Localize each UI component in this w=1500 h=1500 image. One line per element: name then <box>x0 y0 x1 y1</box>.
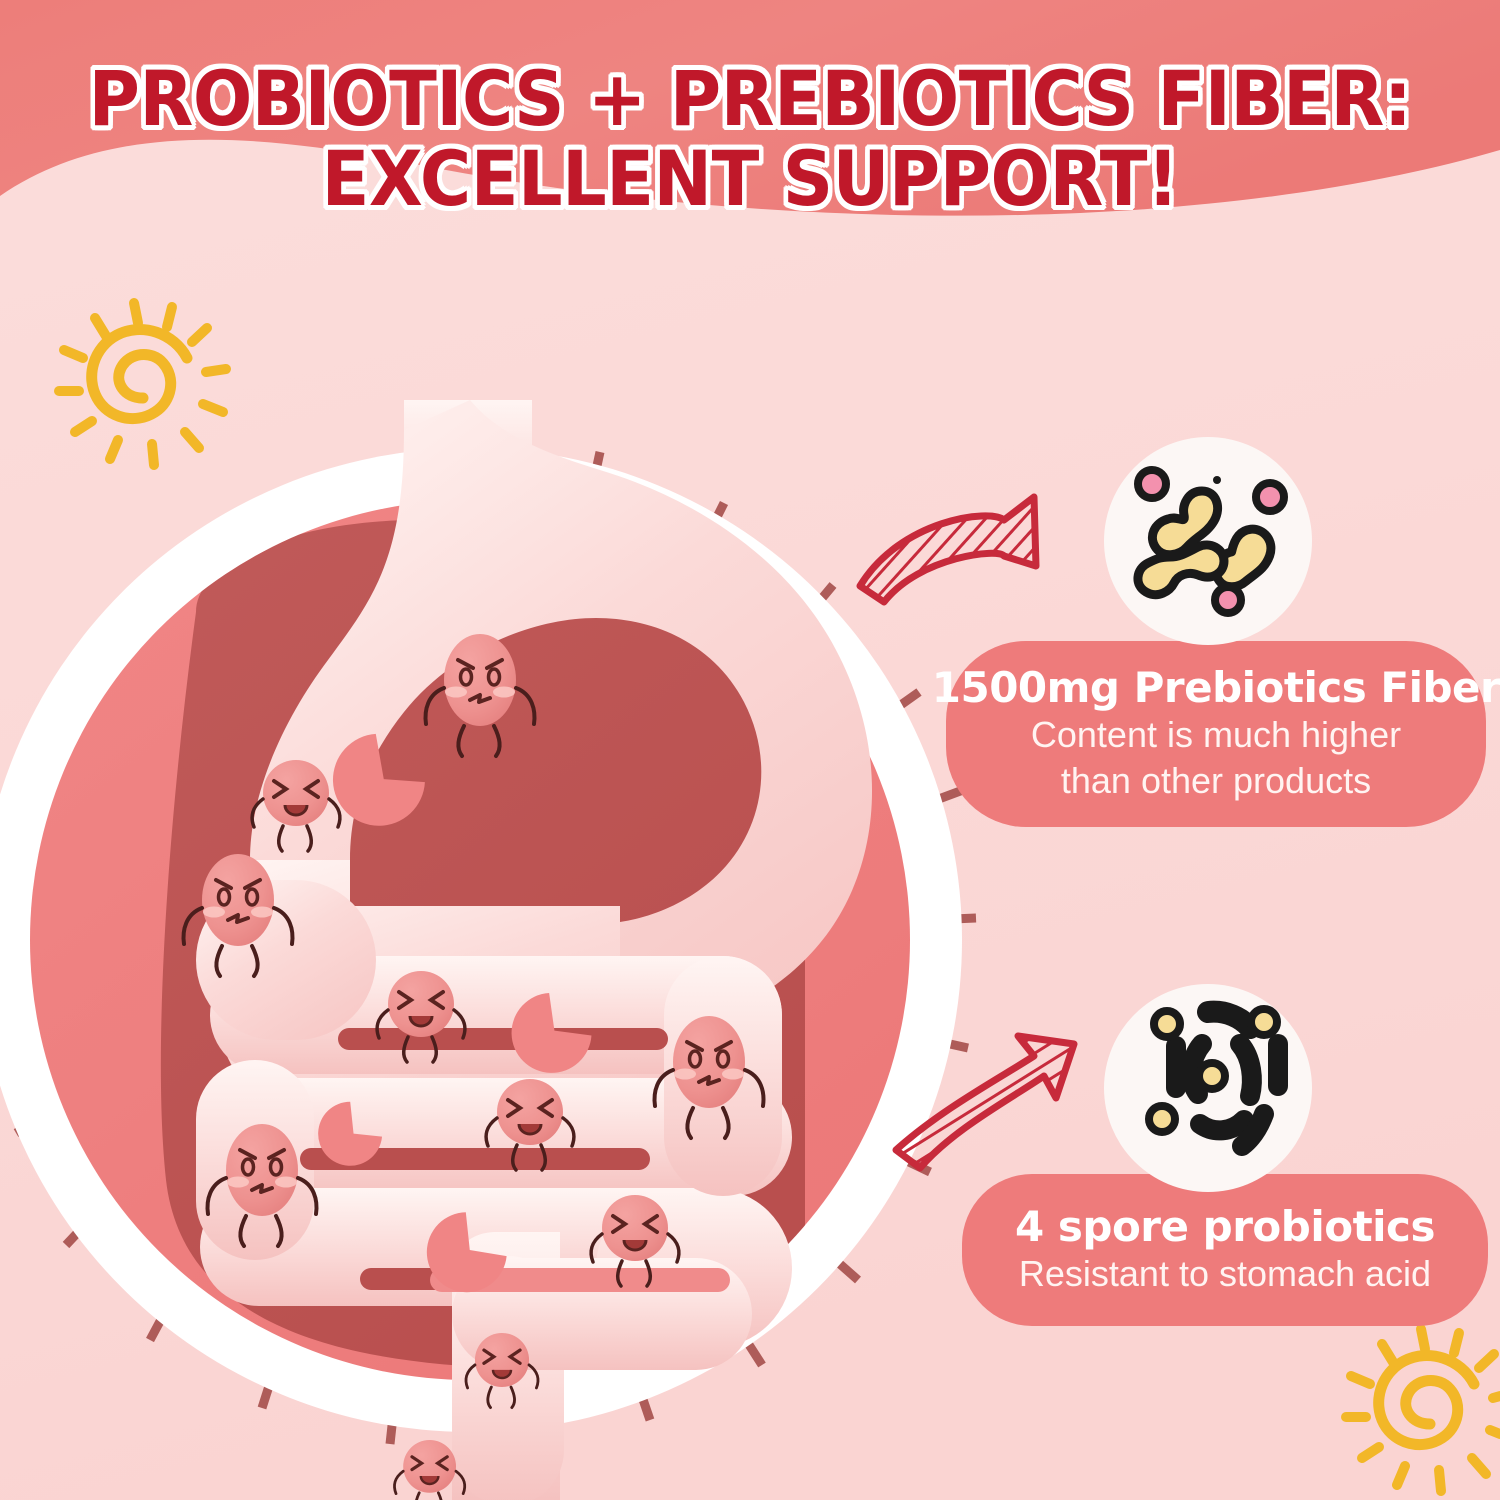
prebiotic-fiber-icon-badge <box>1104 437 1312 645</box>
spore-probiotic-icon-badge <box>1104 984 1312 1192</box>
prebiotic-fiber-icon <box>1104 437 1312 645</box>
sun-doodle-top-left <box>59 303 226 465</box>
curved-arrow-bottom <box>896 1036 1074 1168</box>
benefit-card-fiber-sub-2: than other products <box>1061 760 1371 802</box>
benefit-card-spore: 4 spore probiotics Resistant to stomach … <box>962 1174 1488 1326</box>
sun-doodle-bottom-right <box>1346 1329 1500 1491</box>
infographic-canvas: PROBIOTICS + PREBIOTICS FIBER: EXCELLENT… <box>0 0 1500 1500</box>
curved-arrow-top <box>860 497 1036 602</box>
benefit-card-fiber-sub-1: Content is much higher <box>1031 714 1401 756</box>
benefit-card-fiber: 1500mg Prebiotics Fiber Content is much … <box>946 641 1486 827</box>
benefit-card-fiber-title: 1500mg Prebiotics Fiber <box>932 666 1500 710</box>
benefit-card-spore-sub-1: Resistant to stomach acid <box>1019 1253 1431 1295</box>
benefit-card-spore-title: 4 spore probiotics <box>1015 1205 1435 1249</box>
spore-probiotic-icon <box>1104 984 1312 1192</box>
